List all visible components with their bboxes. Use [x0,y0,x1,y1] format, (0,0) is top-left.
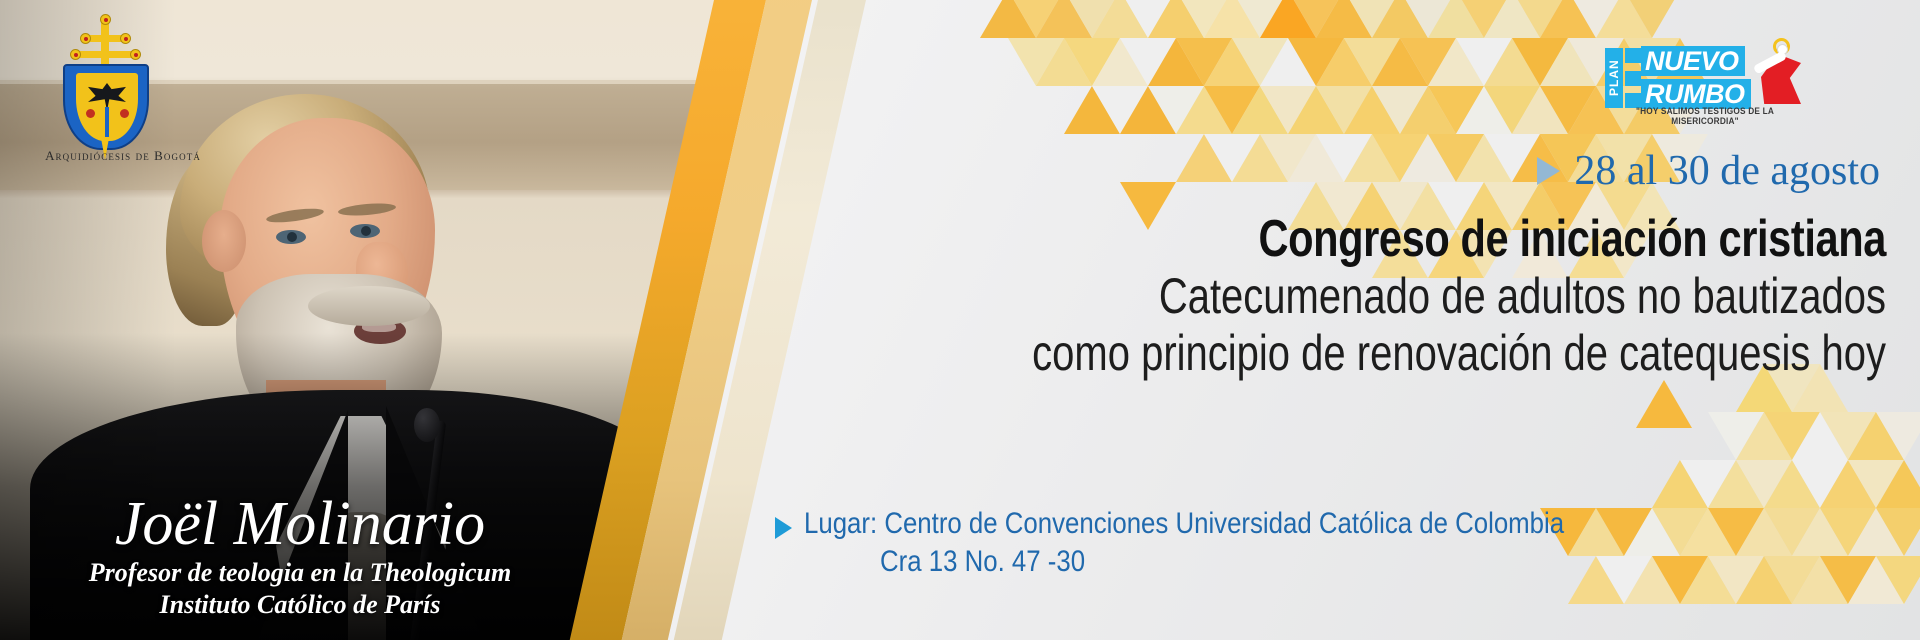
mosaic-triangle [1400,86,1456,134]
mosaic-triangle [1764,508,1820,556]
mosaic-triangle [1008,0,1064,38]
mosaic-triangle [1204,0,1260,38]
mosaic-triangle [1260,38,1316,86]
logo-plan-label: PLAN [1605,48,1623,108]
mosaic-triangle [1736,556,1792,604]
triangle-right-icon [775,517,792,539]
shield-field [76,73,138,141]
mosaic-triangle [1176,0,1232,38]
speaker-role-line-1: Profesor de teologia en la Theologicum [10,557,590,590]
organization-name: Arquidiócesis de Bogotá [8,148,238,164]
mosaic-triangle [1204,86,1260,134]
mosaic-triangle [1848,460,1904,508]
mosaic-triangle [1372,134,1428,182]
mosaic-triangle [1344,86,1400,134]
mosaic-triangle [1260,86,1316,134]
mosaic-triangle [1344,0,1400,38]
mosaic-triangle [1636,380,1692,428]
cross-bar-lower [76,51,134,58]
mosaic-triangle [1792,460,1848,508]
mosaic-triangle [1876,460,1920,508]
mosaic-triangle [1400,38,1456,86]
mosaic-triangle [1372,0,1428,38]
mosaic-triangle [1288,86,1344,134]
rose-left [86,109,95,118]
mosaic-triangle [1120,38,1176,86]
mosaic-triangle [1176,38,1232,86]
mosaic-triangle [1820,412,1876,460]
mosaic-triangle [1792,556,1848,604]
mosaic-triangle [1764,412,1820,460]
mosaic-triangle [1316,134,1372,182]
mosaic-triangle [1708,508,1764,556]
mosaic-triangle [1176,134,1232,182]
mosaic-triangle [1288,134,1344,182]
mosaic-triangle [1148,86,1204,134]
mosaic-triangle [1484,86,1540,134]
mosaic-triangle [1456,38,1512,86]
cross-bar-upper [85,35,125,42]
mosaic-triangle [1232,38,1288,86]
mosaic-triangle [1260,134,1316,182]
cross-knob-lower-right [130,49,141,60]
mosaic-triangle [1876,556,1920,604]
event-date: 28 al 30 de agosto [1537,150,1880,192]
mosaic-triangle [1232,0,1288,38]
mosaic-triangle [1624,0,1680,38]
mosaic-triangle [1540,0,1596,38]
mosaic-triangle [1372,86,1428,134]
mosaic-triangle [1484,134,1540,182]
logo-wordmark: NUEVO RUMBO [1641,46,1751,109]
mosaic-triangle [1176,86,1232,134]
mosaic-triangle [1372,38,1428,86]
mosaic-triangle [1512,0,1568,38]
speaker-name-block: Joël Molinario Profesor de teologia en l… [10,493,590,622]
mosaic-triangle [1120,86,1176,134]
mosaic-triangle [1484,0,1540,38]
event-subtitle-line-2: como principio de renovación de cateques… [1022,326,1886,381]
logo-tagline: "HOY SALIMOS TESTIGOS DE LA MISERICORDIA… [1615,106,1795,126]
mosaic-triangle [1456,0,1512,38]
mosaic-triangle [1344,38,1400,86]
mosaic-triangle [1428,38,1484,86]
mosaic-triangle [1708,412,1764,460]
mosaic-triangle [1204,134,1260,182]
mosaic-triangle [1288,0,1344,38]
mosaic-triangle [1512,86,1568,134]
mosaic-triangle [1568,0,1624,38]
mosaic-triangle [1820,508,1876,556]
mosaic-triangle [1428,0,1484,38]
mosaic-triangle [1008,38,1064,86]
mosaic-triangle [1344,134,1400,182]
mosaic-triangle [1680,556,1736,604]
mosaic-triangle [1792,508,1848,556]
mosaic-triangle [1092,86,1148,134]
mosaic-triangle [1736,508,1792,556]
mosaic-triangle [1148,0,1204,38]
mosaic-triangle [1428,86,1484,134]
mosaic-triangle [1316,38,1372,86]
mosaic-triangle [1596,0,1652,38]
mosaic-triangle [1260,0,1316,38]
mosaic-triangle [1316,86,1372,134]
mosaic-triangle [1820,556,1876,604]
mosaic-triangle [1820,460,1876,508]
venue-line-2: Cra 13 No. 47 -30 [880,543,1575,581]
mosaic-triangle [1092,38,1148,86]
mosaic-triangle [1064,86,1120,134]
speaker-name: Joël Molinario [10,493,590,556]
event-date-text: 28 al 30 de agosto [1574,150,1880,192]
mosaic-triangle [1764,556,1820,604]
logo-word-nuevo: NUEVO [1641,46,1745,76]
cross-knob-top [100,14,111,25]
event-subtitle-line-1: Catecumenado de adultos no bautizados [1022,269,1886,324]
cross-knob-upper-left [80,33,91,44]
venue-line-1: Lugar: Centro de Convenciones Universida… [804,505,1564,543]
logo-e-mark-icon [1625,48,1641,108]
mosaic-triangle [1848,412,1904,460]
mosaic-triangle [1652,460,1708,508]
mosaic-triangle [1036,0,1092,38]
speaker-role-line-2: Instituto Católico de París [10,589,590,622]
mosaic-triangle [1092,0,1148,38]
mosaic-triangle [1540,86,1596,134]
mosaic-triangle [1680,508,1736,556]
mosaic-triangle [1456,134,1512,182]
mosaic-triangle [1316,0,1372,38]
mosaic-triangle [1736,412,1792,460]
event-venue: Lugar: Centro de Convenciones Universida… [775,505,1688,582]
running-figure-with-halo-icon [1755,36,1807,114]
mosaic-triangle [1708,556,1764,604]
mosaic-triangle [1288,38,1344,86]
mosaic-triangle [1876,508,1920,556]
plan-nuevo-rumbo-logo[interactable]: PLAN NUEVO RUMBO "HOY SALIMOS TESTIGOS D… [1605,36,1805,122]
page-title: Congreso de iniciación cristiana [1022,212,1886,267]
mosaic-triangle [1120,0,1176,38]
mosaic-triangle [1456,86,1512,134]
mosaic-triangle [1876,412,1920,460]
mosaic-triangle [980,0,1036,38]
rose-right [120,109,129,118]
mosaic-triangle [1064,38,1120,86]
mosaic-triangle [1232,134,1288,182]
mosaic-triangle [1232,86,1288,134]
mosaic-triangle [1540,38,1596,86]
sword-icon [105,107,109,137]
mosaic-triangle [1428,134,1484,182]
mosaic-triangle [1764,460,1820,508]
triangle-right-icon [1537,157,1560,185]
cross-knob-upper-right [120,33,131,44]
archdiocese-coat-of-arms-icon [45,18,175,143]
cross-knob-lower-left [70,49,81,60]
mosaic-triangle [1400,0,1456,38]
logo-word-rumbo: RUMBO [1641,79,1751,109]
shield [63,64,149,150]
mosaic-triangle [1848,508,1904,556]
event-banner: Arquidiócesis de Bogotá PLAN NUEVO RUMBO… [0,0,1920,640]
mosaic-triangle [1708,460,1764,508]
mosaic-triangle [1848,556,1904,604]
mosaic-triangle [1680,460,1736,508]
mosaic-triangle [1736,460,1792,508]
event-title-block: Congreso de iniciación cristiana Catecum… [806,212,1886,381]
mosaic-triangle [1036,38,1092,86]
mosaic-triangle [1484,38,1540,86]
mosaic-triangle [1792,412,1848,460]
mosaic-triangle [1204,38,1260,86]
mosaic-triangle [1148,38,1204,86]
mosaic-triangle [1512,38,1568,86]
mosaic-triangle [1064,0,1120,38]
mosaic-triangle [1400,134,1456,182]
